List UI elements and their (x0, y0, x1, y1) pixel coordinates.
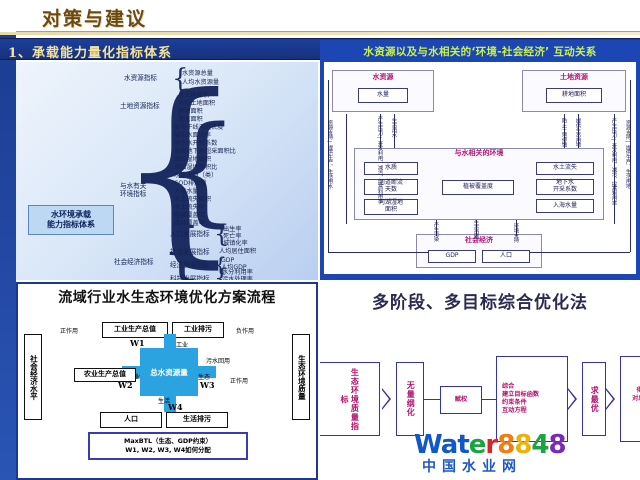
box-env-groundwater-coef-l2: 开采系数 (553, 187, 577, 194)
tag-ecology: 生态 (198, 372, 210, 381)
synthesis-line-1: 综合 (502, 383, 514, 391)
chevron-5 (606, 388, 615, 410)
box-agricultural-output: 农业生产总值 (74, 368, 136, 382)
result-line-1: 得到承载人口 (636, 387, 640, 395)
box-env-wetland-area: 河湖湿地 面积 (364, 199, 418, 215)
edge-label-produce-pollution: 产生污染 (432, 222, 438, 241)
leaf-pop-2: 城镇化率 (223, 240, 248, 248)
box-industrial-discharge: 工业排污 (172, 322, 224, 338)
connector-3 (482, 399, 496, 400)
edge-label-resource-support-water: 资源支持—提供生产、生活用水 (326, 120, 332, 188)
leaf-env-9: 水土流失面积 (174, 196, 211, 204)
branch-label-land: 土地资源指标 (120, 102, 160, 110)
edge-label-env-support: 环境支持 (512, 223, 518, 242)
label-positive-effect-1: 正作用 (60, 326, 78, 335)
box-arable-area: 耕地面积 (546, 88, 602, 103)
box-env-river-dryup-days: 河道断流 天数 (364, 179, 418, 195)
stage-box-optimize: 求最优 (582, 362, 606, 436)
interaction-title: 水资源以及与水相关的‘环境-社会经济’ 互动关系 (320, 44, 640, 59)
objective-line-2: W1, W2, W3, W4如何分配 (125, 446, 211, 455)
branch-label-water: 水资源指标 (124, 74, 157, 82)
box-population: 人口 (482, 250, 530, 263)
label-land-resource: 土地资源 (522, 72, 626, 84)
leaf-env-6: 水体水质（类） (174, 172, 217, 180)
edge-label-eco-land-use: 生态用地 (472, 220, 478, 239)
subgroup-label-tech: 科技发展指标 (170, 275, 210, 280)
edge-label-resource-support-land: 资源支持—提供生产、生活用地 (624, 120, 630, 188)
synthesis-line-3: 约束条件 (502, 399, 527, 407)
label-water-related-env: 与水相关的环境 (354, 148, 604, 159)
branch-label-env-l2: 环境指标 (120, 190, 146, 198)
box-water-quantity: 水量 (358, 88, 408, 103)
box-env-wetland-area-l2: 面积 (385, 207, 397, 214)
leaf-env-1: 城市水面比率 (174, 132, 211, 140)
edge-label-eco-water: 生态用水 (390, 118, 396, 137)
stage-indicator-line-1: 生态环境质量指标 (339, 366, 360, 432)
box-population-bl: 人口 (100, 412, 162, 428)
connector-2 (424, 399, 440, 400)
header-rail-cap (0, 0, 16, 33)
connector-right-bottom (530, 252, 630, 253)
leaf-env-5: 湖泊湿地面积比 (174, 164, 217, 172)
box-objective-function: MaxBTL（生态、GDP约束） W1, W2, W3, W4如何分配 (88, 432, 248, 460)
subgroup-label-social: 社会发展指标 (170, 248, 210, 256)
box-industrial-output: 工业生产总值 (102, 322, 168, 338)
leaf-env-3: 浅层地下水超采面积比 (174, 148, 236, 156)
pillar-eco-environment-quality: 生态环境质量 (292, 334, 310, 420)
leaf-tech-1: 污水处理率 (222, 276, 253, 280)
leaf-water-0: 水资源总量 (182, 70, 213, 78)
branch-label-env-l1: 与水有关 (120, 182, 146, 190)
left-decorative-rail (0, 0, 16, 480)
stage-box-normalization: 无量纲化 (396, 362, 424, 436)
connector-left-inner (346, 114, 347, 224)
box-total-water-resource: 总水资源量 (140, 348, 198, 396)
box-env-groundwater-coef: 地下水 开采系数 (536, 179, 594, 195)
weight-label-w3: W3 (200, 380, 215, 390)
tag-industry: 工业 (176, 340, 188, 349)
box-env-river-dryup-days-l2: 天数 (385, 187, 397, 194)
box-env-water-quality: 水质 (364, 162, 418, 175)
multistage-title: 多阶段、多目标综合优化法 (320, 288, 640, 313)
watermark-subtitle: 中国水业网 (422, 456, 522, 476)
box-gdp: GDP (428, 250, 476, 263)
leaf-env-2: 地下水开采系数 (174, 140, 217, 148)
label-water-resource: 水资源 (332, 72, 434, 84)
interaction-canvas: 水资源 水量 土地资源 耕地面积 与水相关的环境 水质 河道断流 天数 河湖湿地… (324, 62, 636, 274)
panel-interaction-relations: 水资源以及与水相关的‘环境-社会经济’ 互动关系 水资源 水量 土地资源 耕地面… (320, 40, 640, 280)
label-wastewater-reuse: 污水回用 (206, 356, 230, 365)
tree-root-line2: 能力指标体系 (47, 220, 95, 230)
leaf-env-8: 入海水量 (174, 188, 199, 196)
synthesis-line-4: 互动方程 (502, 407, 527, 415)
edge-label-pressure-land: 产生压力—开发利用、减污、提高利用率 (610, 118, 616, 205)
edge-label-eco-land: 提供生态用地 (574, 118, 580, 147)
pillar-socioeconomic-level: 社会经济水平 (24, 334, 42, 420)
edge-label-pressure-water: 产生压力—开发利用、减污、提高利用率 (376, 116, 382, 203)
stage-box-weighting: 赋权 (440, 386, 482, 414)
slide-root: 对策与建议 1、承载能力量化指标体系 水环境承载 能力指标体系 { 水资源指标 … (0, 0, 640, 480)
leaf-env-7: COD排放量 (174, 180, 207, 188)
objective-line-1: MaxBTL（生态、GDP约束） (124, 437, 212, 446)
watermark: Water8848 中国水业网 (414, 430, 634, 476)
box-env-soil-erosion: 水土流失 (536, 162, 594, 175)
panel-optimization-flow: 流域行业水生态环境优化方案流程 工业生产总值 工业排污 正作用 负作用 污水回用… (16, 282, 318, 480)
slide-header: 对策与建议 (0, 0, 640, 33)
edge-label-prevent-erosion: 防止土地侵蚀 (560, 118, 566, 147)
subgroup-label-econ: 经济发展指标 (170, 261, 210, 269)
synthesis-line-2: 建立目标函数 (502, 391, 539, 399)
weight-label-w1: W1 (130, 338, 145, 348)
label-positive-effect-2: 正作用 (230, 376, 248, 385)
label-negative-effect: 负作用 (236, 326, 254, 335)
tree-root-line1: 水环境承载 (51, 210, 91, 220)
page-title: 对策与建议 (42, 4, 147, 31)
leaf-land-0: 总土地面积 (178, 92, 209, 100)
panel-indicator-system: 水环境承载 能力指标体系 { 水资源指标 { 水资源总量 人均水资源量 土地资源… (16, 62, 318, 280)
leaf-env-0: 省市干线河道长度 (174, 124, 224, 132)
chevron-4 (568, 388, 577, 410)
subgroup-label-pop: 人口发展指标 (170, 230, 210, 238)
optimization-flow-title: 流域行业水生态环境优化方案流程 (18, 287, 316, 307)
box-env-vegetation-coverage: 植被覆盖度 (442, 180, 514, 195)
tag-living: 生活 (158, 396, 170, 405)
result-line-2: 对应的人均GDP (632, 395, 640, 403)
section-title: 1、承载能力量化指标体系 (8, 42, 172, 61)
weight-label-w4: W4 (168, 402, 183, 412)
branch-label-socio: 社会经济指标 (114, 258, 154, 266)
chevron-1 (382, 388, 391, 410)
leaf-env-4: 湖泊湿地面积 (174, 156, 211, 164)
box-living-discharge: 生活排污 (166, 412, 228, 428)
tree-root-node: 水环境承载 能力指标体系 (28, 205, 114, 235)
leaf-env-10: 水土流失率 (174, 204, 205, 212)
connector-left-bottom (328, 252, 428, 253)
box-env-sea-discharge: 入海水量 (536, 199, 594, 213)
stage-box-indicators: 生态环境质量指标 (320, 362, 380, 436)
